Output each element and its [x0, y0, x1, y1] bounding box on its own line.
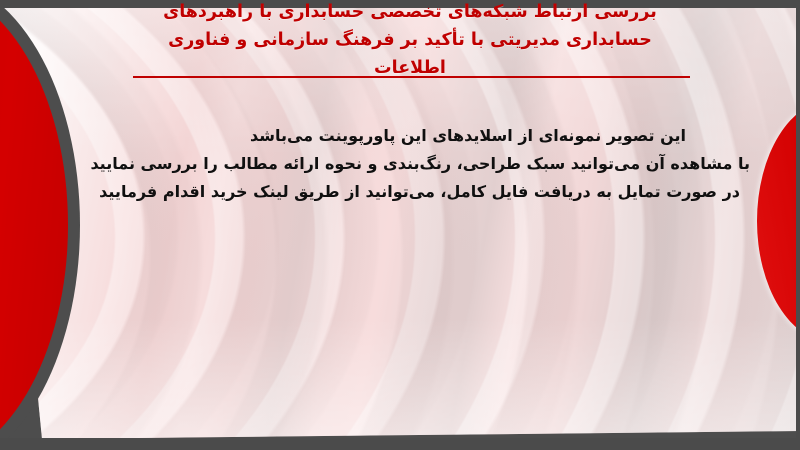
slide-body-text: این تصویر نمونه‌ای از اسلایدهای این پاور…: [60, 122, 750, 206]
right-frame-bar: [796, 0, 800, 450]
presentation-slide: بررسی ارتباط شبکه‌های تخصصی حسابداری با …: [0, 0, 800, 450]
slide-body-line-2: با مشاهده آن می‌توانید سبک طراحی، رنگ‌بن…: [60, 150, 750, 178]
slide-title: بررسی ارتباط شبکه‌های تخصصی حسابداری با …: [100, 0, 720, 82]
title-underline-rule: [133, 76, 690, 78]
slide-body-line-1: این تصویر نمونه‌ای از اسلایدهای این پاور…: [60, 122, 750, 150]
slide-body-line-3: در صورت تمایل به دریافت فایل کامل، می‌تو…: [60, 178, 750, 206]
slide-title-line-2: حسابداری مدیریتی با تأکید بر فرهنگ سازما…: [100, 26, 720, 54]
slide-title-line-1: بررسی ارتباط شبکه‌های تخصصی حسابداری با …: [100, 0, 720, 26]
bottom-frame-bar: [0, 438, 800, 450]
